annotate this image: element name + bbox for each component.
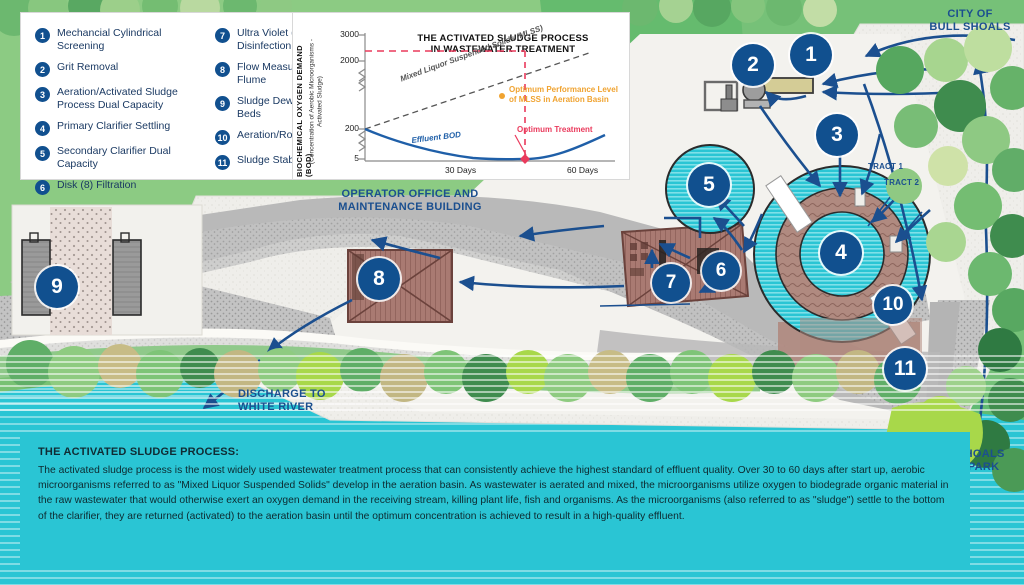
legend-label: Grit Removal [57,61,118,74]
legend-number: 4 [35,121,50,136]
map-marker-1[interactable]: 1 [790,34,832,76]
legend-number: 7 [215,28,230,43]
bod-mlss-chart-panel: THE ACTIVATED SLUDGE PROCESS IN WASTEWAT… [292,12,630,180]
map-marker-3[interactable]: 3 [816,114,858,156]
bottom-panel-body: The activated sludge process is the most… [20,458,970,524]
legend-item-5[interactable]: 5 Secondary Clarifier Dual Capacity [35,145,203,170]
infographic-canvas: CITY OF BULL SHOALS OPERATOR OFFICE AND … [0,0,1024,585]
legend-label: Disk (8) Filtration [57,179,136,192]
legend-number: 1 [35,28,50,43]
bottom-description-panel: THE ACTIVATED SLUDGE PROCESS: The activa… [20,432,970,567]
annotation-optimum-performance: Optimum Performance Level of MLSS in Aer… [509,85,621,104]
legend-number: 5 [35,146,50,161]
legend-number: 10 [215,130,230,145]
map-marker-2[interactable]: 2 [732,44,774,86]
legend-label: Secondary Clarifier Dual Capacity [57,145,203,170]
label-city-of-bull-shoals: CITY OF BULL SHOALS [918,8,1022,34]
legend-number: 2 [35,62,50,77]
map-marker-8[interactable]: 8 [358,258,400,300]
annotation-optimum-treatment: Optimum Treatment [517,125,593,135]
water-wave-texture-top [0,355,1024,415]
legend-item-2[interactable]: 2 Grit Removal [35,61,203,77]
vacuum-bed-right [113,240,141,315]
map-marker-11[interactable]: 11 [884,348,926,390]
legend-number: 9 [215,96,230,111]
map-marker-7[interactable]: 7 [652,264,690,302]
legend-label: Primary Clarifier Settling [57,120,170,133]
legend-item-1[interactable]: 1 Mechancial Cylindrical Screening [35,27,203,52]
legend-label: Mechancial Cylindrical Screening [57,27,203,52]
legend-number: 11 [215,155,230,170]
map-marker-5[interactable]: 5 [688,164,730,206]
legend-item-6[interactable]: 6 Disk (8) Filtration [35,179,203,195]
legend-item-3[interactable]: 3 Aeration/Activated Sludge Process Dual… [35,86,203,111]
bottom-panel-title: THE ACTIVATED SLUDGE PROCESS: [20,432,970,458]
map-marker-4[interactable]: 4 [820,232,862,274]
legend-number: 6 [35,180,50,195]
legend-number: 8 [215,62,230,77]
label-tract-1: TRACT 1 [868,160,916,173]
map-marker-9[interactable]: 9 [36,266,78,308]
legend-item-4[interactable]: 4 Primary Clarifier Settling [35,120,203,136]
map-marker-10[interactable]: 10 [874,286,912,324]
legend-column-left: 1 Mechancial Cylindrical Screening 2 Gri… [35,27,203,204]
legend-number: 3 [35,87,50,102]
optimum-treatment-point [520,154,530,164]
label-discharge-to-white-river: DISCHARGE TO WHITE RIVER [238,388,378,414]
map-marker-6[interactable]: 6 [702,252,740,290]
mlss-annotation-dot [499,93,505,99]
label-tract-2: TRACT 2 [884,176,932,189]
legend-label: Aeration/Activated Sludge Process Dual C… [57,86,203,111]
